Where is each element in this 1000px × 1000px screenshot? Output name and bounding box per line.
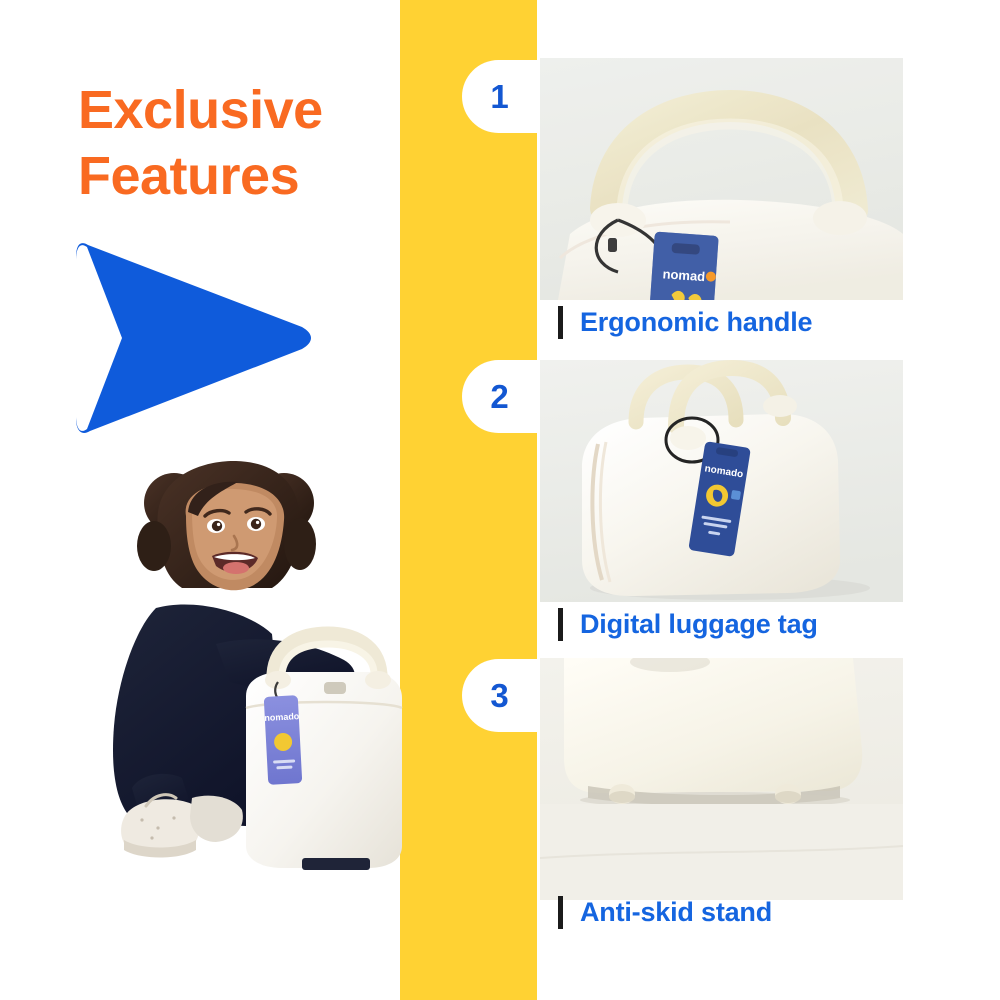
step-badge-1: 1 bbox=[462, 60, 537, 133]
feature-caption-1: Ergonomic handle bbox=[558, 306, 812, 339]
page-title-line-1: Exclusive bbox=[78, 78, 388, 144]
anti-skid-feet-closeup-photo bbox=[540, 658, 903, 900]
right-arrow-chevron-icon bbox=[75, 238, 315, 438]
feature-label-2: Digital luggage tag bbox=[580, 609, 818, 640]
svg-text:nomado: nomado bbox=[264, 711, 300, 723]
caption-accent-bar bbox=[558, 306, 563, 339]
child-with-vanity-case-photo: nomado bbox=[96, 458, 441, 878]
vanity-case-with-digital-tag-photo: nomado bbox=[540, 360, 903, 602]
poster-canvas: Exclusive Features bbox=[0, 0, 1000, 1000]
caption-accent-bar bbox=[558, 896, 563, 929]
feature-caption-3: Anti-skid stand bbox=[558, 896, 772, 929]
step-badge-number-1: 1 bbox=[490, 78, 508, 116]
step-badge-2: 2 bbox=[462, 360, 537, 433]
page-title-line-2: Features bbox=[78, 144, 388, 210]
luggage-handle-closeup-photo: nomad bbox=[540, 58, 903, 300]
feature-label-1: Ergonomic handle bbox=[580, 307, 812, 338]
page-title: Exclusive Features bbox=[78, 78, 388, 210]
step-badge-3: 3 bbox=[462, 659, 537, 732]
feature-label-3: Anti-skid stand bbox=[580, 897, 772, 928]
step-badge-number-2: 2 bbox=[490, 378, 508, 416]
caption-accent-bar bbox=[558, 608, 563, 641]
feature-caption-2: Digital luggage tag bbox=[558, 608, 818, 641]
step-badge-number-3: 3 bbox=[490, 677, 508, 715]
